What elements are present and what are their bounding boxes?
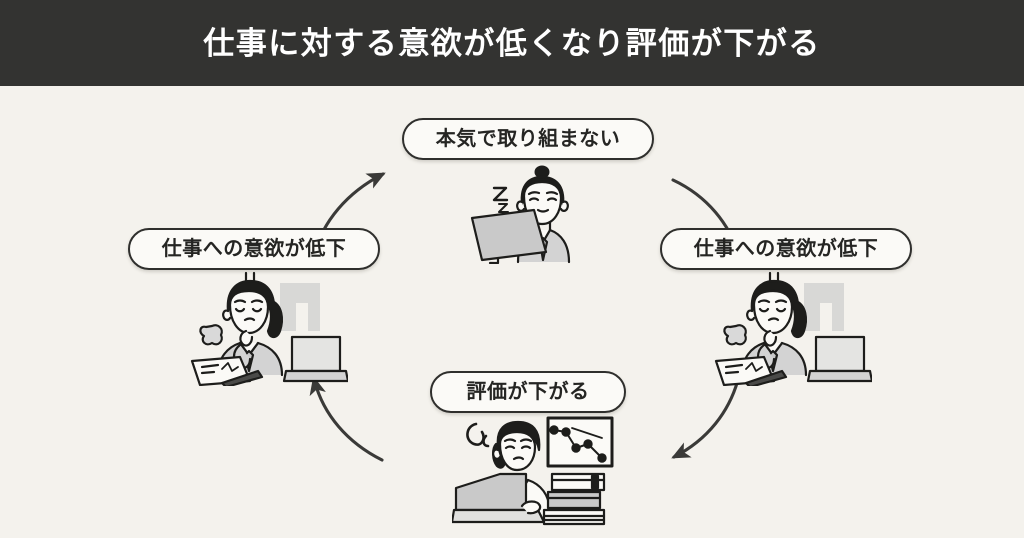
arrow-bottom-to-left <box>314 379 382 460</box>
header-band: 仕事に対する意欲が低くなり評価が下がる <box>0 0 1024 86</box>
sighing-woman-at-desk-icon-left <box>188 271 348 386</box>
node-label-bottom-text: 評価が下がる <box>467 382 590 402</box>
sleepy-person-at-monitor-icon <box>462 164 610 264</box>
node-label-right-text: 仕事への意欲が低下 <box>694 239 879 259</box>
cycle-diagram: 本気で取り組まない <box>0 86 1024 538</box>
node-label-bottom[interactable]: 評価が下がる <box>430 371 626 413</box>
node-label-left-text: 仕事への意欲が低下 <box>162 239 347 259</box>
node-label-right[interactable]: 仕事への意欲が低下 <box>660 228 912 270</box>
node-label-top[interactable]: 本気で取り組まない <box>402 118 654 160</box>
sighing-woman-at-desk-icon-right <box>712 271 872 386</box>
node-label-left[interactable]: 仕事への意欲が低下 <box>128 228 380 270</box>
worried-person-with-declining-chart-icon <box>452 414 620 526</box>
arrow-right-to-bottom <box>674 376 739 457</box>
slide-root: 仕事に対する意欲が低くなり評価が下がる 本気で取り組まない <box>0 0 1024 538</box>
node-label-top-text: 本気で取り組まない <box>436 129 621 149</box>
page-title: 仕事に対する意欲が低くなり評価が下がる <box>203 28 821 59</box>
